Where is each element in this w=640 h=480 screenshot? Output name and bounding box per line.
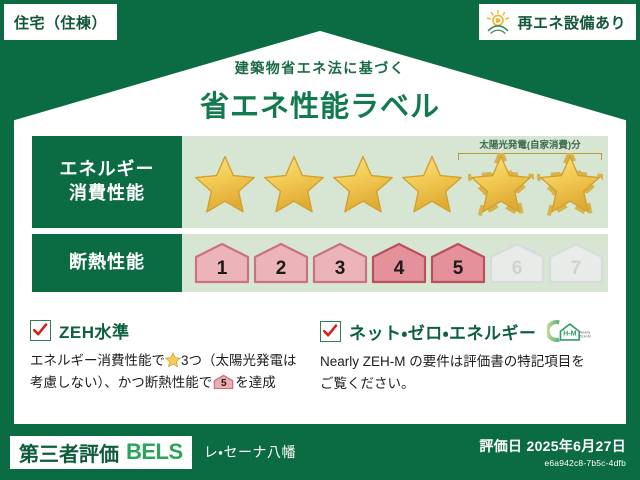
insulation-level-7: 7 xyxy=(548,241,604,285)
criteria-zeh-title: ZEH水準 xyxy=(59,318,130,343)
criteria-section: ZEH水準 エネルギー消費性能で 3つ（太陽光発電は考慮しない）、かつ断熱性能で… xyxy=(30,318,610,395)
zeh-m-logo-icon: H-M Nearly ZEH-M xyxy=(547,318,591,344)
performance-panel: エネルギー 消費性能 太陽光発電(自家消費)分 断熱性能 1234567 xyxy=(32,136,608,292)
insulation-level-value: 3 xyxy=(335,258,346,285)
criteria-zeh: ZEH水準 エネルギー消費性能で 3つ（太陽光発電は考慮しない）、かつ断熱性能で… xyxy=(30,318,320,395)
sun-icon xyxy=(485,9,511,35)
insulation-performance-label-block: 断熱性能 xyxy=(32,234,182,292)
bels-en-label: BELS xyxy=(126,439,183,465)
evaluation-date: 評価日 2025年6月27日 xyxy=(479,436,626,456)
insulation-level-scale: 1234567 xyxy=(182,241,604,285)
energy-stars-area: 太陽光発電(自家消費)分 xyxy=(182,136,608,228)
insulation-level-value: 4 xyxy=(394,258,405,285)
renewable-equipment-label: 再エネ設備あり xyxy=(517,12,626,33)
criteria-nze-title: ネット・ゼロ・エネルギー xyxy=(349,319,537,344)
insulation-level-value: 2 xyxy=(276,258,287,285)
checkbox-zeh[interactable] xyxy=(30,320,51,341)
insulation-level-3: 3 xyxy=(312,241,368,285)
criteria-zeh-header: ZEH水準 xyxy=(30,318,306,343)
star-icon xyxy=(165,352,181,368)
bels-jp-label: 第三者評価 xyxy=(19,438,119,467)
energy-label-line2: 消費性能 xyxy=(69,182,145,206)
insulation-level-value: 1 xyxy=(217,258,228,285)
star-icon-filled xyxy=(192,153,258,219)
energy-performance-label-block: エネルギー 消費性能 xyxy=(32,136,182,228)
star-icon-solar xyxy=(468,153,534,219)
svg-text:H-M: H-M xyxy=(563,331,576,338)
insulation-level-value: 6 xyxy=(512,258,523,285)
insulation-level-1: 1 xyxy=(194,241,250,285)
star-icon-filled xyxy=(330,153,396,219)
insulation-level-4: 4 xyxy=(371,241,427,285)
criteria-nze-header: ネット・ゼロ・エネルギー H-M Nearly ZEH- xyxy=(320,318,596,344)
energy-performance-row: エネルギー 消費性能 太陽光発電(自家消費)分 xyxy=(32,136,608,228)
insulation-badge-inline-value: 5 xyxy=(213,376,234,392)
insulation-level-6: 6 xyxy=(489,241,545,285)
criteria-zeh-text-3: を達成 xyxy=(235,375,276,390)
insulation-levels-area: 1234567 xyxy=(182,234,608,292)
star-icon-filled xyxy=(261,153,327,219)
energy-performance-label: 住宅（住棟） 再エネ設備あり 建築物省エネ法に基づく 省エネ性能ラベル xyxy=(0,0,640,480)
building-type-label: 住宅（住棟） xyxy=(14,12,107,33)
building-type-chip: 住宅（住棟） xyxy=(4,4,117,40)
star-icon-filled xyxy=(399,153,465,219)
evaluation-id: e6a942c8-7b5c-4dfb xyxy=(479,458,626,468)
star-rating xyxy=(182,153,603,219)
insulation-level-5: 5 xyxy=(430,241,486,285)
footer-meta: 評価日 2025年6月27日 e6a942c8-7b5c-4dfb xyxy=(479,436,626,468)
insulation-level-2: 2 xyxy=(253,241,309,285)
insulation-performance-row: 断熱性能 1234567 xyxy=(32,234,608,292)
check-icon xyxy=(322,323,338,339)
insulation-level-value: 5 xyxy=(453,258,464,285)
star-icon-solar xyxy=(537,153,603,219)
renewable-equipment-chip: 再エネ設備あり xyxy=(479,4,636,40)
insulation-badge-inline: 5 xyxy=(213,374,234,390)
title-subtitle: 建築物省エネ法に基づく xyxy=(0,58,640,78)
solar-bracket-label: 太陽光発電(自家消費)分 xyxy=(456,137,604,151)
label-title-block: 建築物省エネ法に基づく 省エネ性能ラベル xyxy=(0,58,640,125)
page-title: 省エネ性能ラベル xyxy=(0,83,640,125)
criteria-zeh-body: エネルギー消費性能で 3つ（太陽光発電は考慮しない）、かつ断熱性能で 5を達成 xyxy=(30,350,306,394)
footer-bar: 第三者評価 BELS レ・セーナ八幡 評価日 2025年6月27日 e6a942… xyxy=(0,424,640,480)
criteria-nze-body: Nearly ZEH-M の要件は評価書の特記項目をご覧ください。 xyxy=(320,351,596,395)
insulation-level-value: 7 xyxy=(571,258,582,285)
energy-label-line1: エネルギー xyxy=(60,158,155,182)
check-icon xyxy=(32,322,48,338)
property-name: レ・セーナ八幡 xyxy=(204,442,296,462)
criteria-zeh-text-1: エネルギー消費性能で xyxy=(30,353,165,368)
bels-badge: 第三者評価 BELS xyxy=(10,436,192,469)
criteria-nze: ネット・ゼロ・エネルギー H-M Nearly ZEH- xyxy=(320,318,610,395)
insulation-label: 断熱性能 xyxy=(69,251,145,275)
checkbox-net-zero-energy[interactable] xyxy=(320,321,341,342)
svg-text:ZEH-M: ZEH-M xyxy=(579,335,591,339)
